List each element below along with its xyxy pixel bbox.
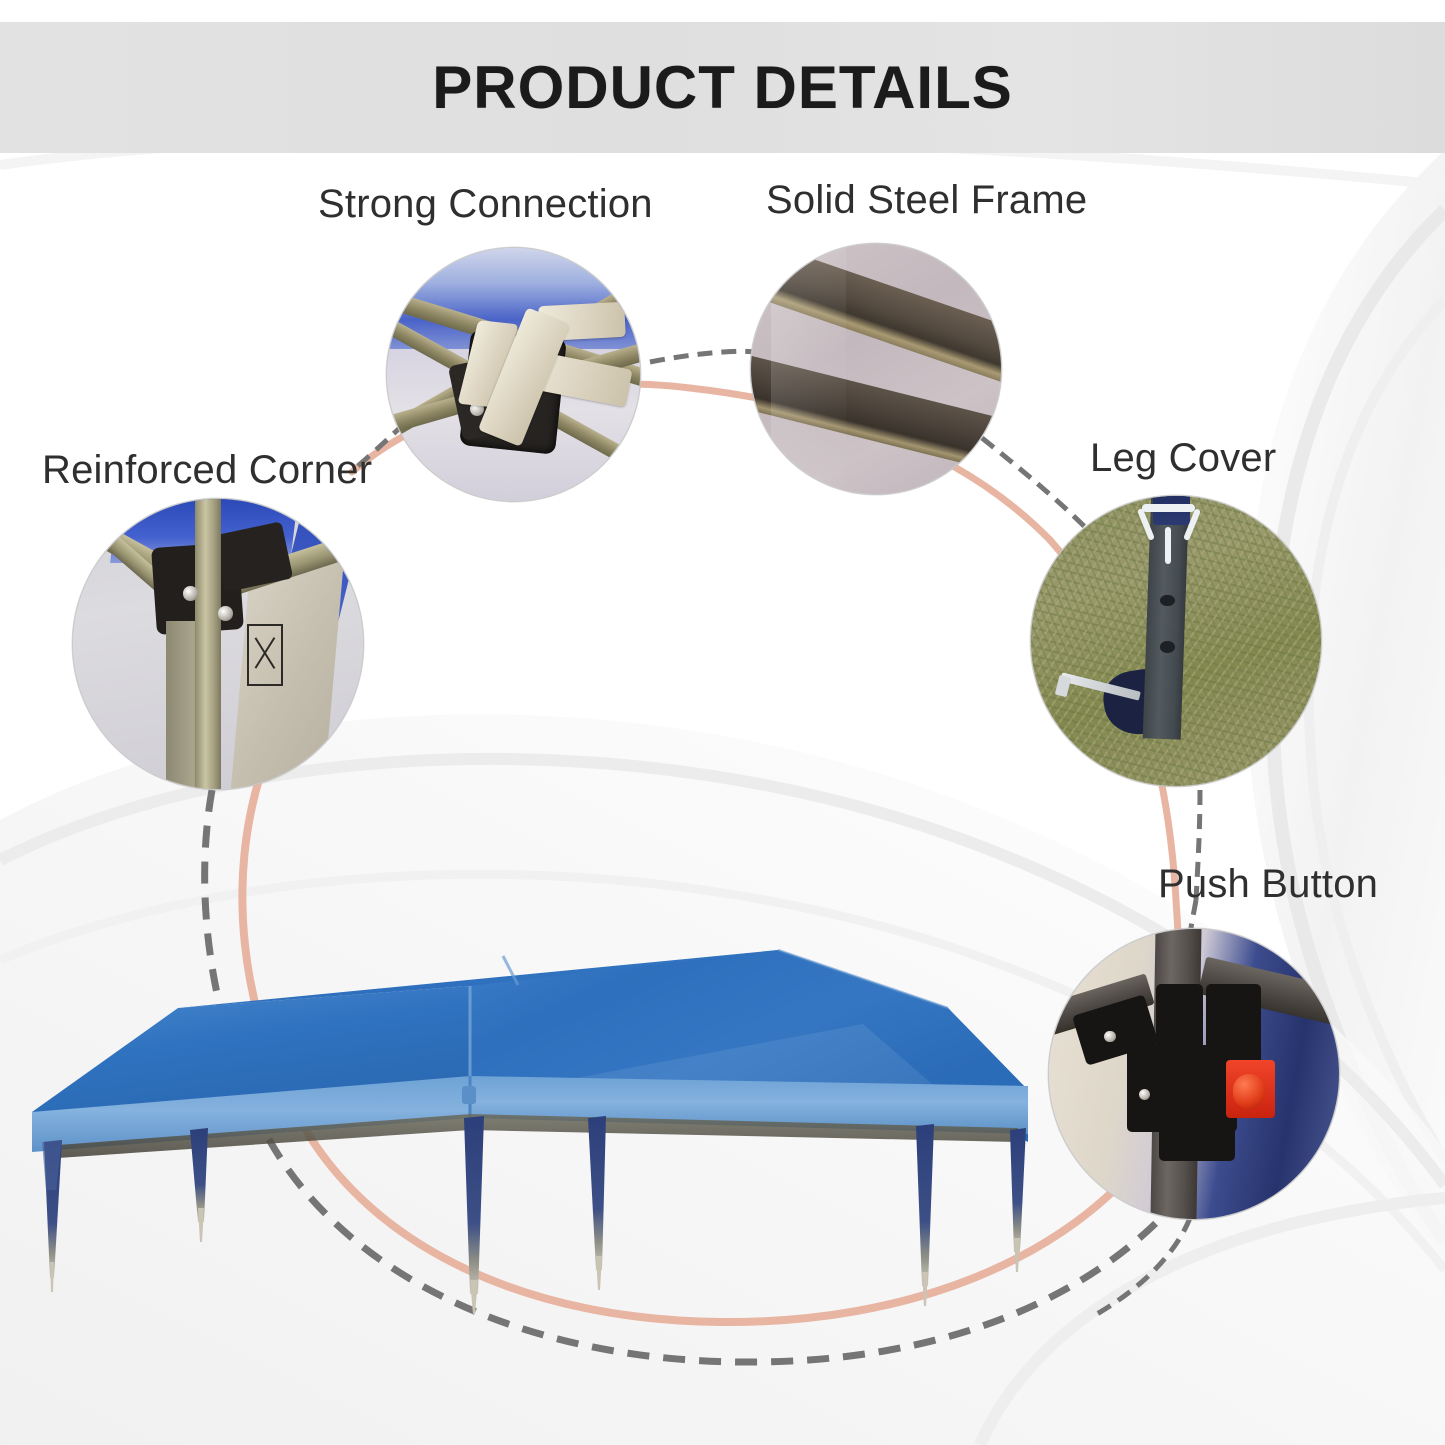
leg-post bbox=[195, 499, 221, 789]
page-title: PRODUCT DETAILS bbox=[0, 22, 1445, 153]
screw-icon bbox=[1104, 1031, 1116, 1043]
callout-image-push-button[interactable] bbox=[1048, 928, 1340, 1220]
callout-image-solid-steel-frame[interactable] bbox=[750, 243, 1002, 495]
product-details-infographic: PRODUCT DETAILS bbox=[0, 0, 1445, 1445]
product-image-canopy bbox=[18, 890, 1066, 1330]
callout-image-leg-cover[interactable] bbox=[1030, 495, 1322, 787]
canopy-leg-tips bbox=[50, 1208, 1020, 1314]
height-adjust-hole bbox=[1160, 641, 1175, 653]
label-strong-connection: Strong Connection bbox=[318, 182, 653, 227]
callout-image-strong-connection[interactable] bbox=[386, 247, 641, 502]
callout-image-reinforced-corner[interactable] bbox=[72, 498, 364, 790]
label-reinforced-corner: Reinforced Corner bbox=[42, 448, 372, 493]
screw-icon bbox=[218, 606, 233, 621]
screw-icon bbox=[183, 586, 198, 601]
label-leg-cover: Leg Cover bbox=[1090, 436, 1276, 481]
label-push-button: Push Button bbox=[1158, 862, 1378, 907]
height-adjust-hole bbox=[1160, 595, 1175, 607]
slider-connector bbox=[1159, 1109, 1234, 1161]
highlight-sheen bbox=[771, 244, 846, 494]
y-bracket-icon bbox=[1141, 502, 1196, 566]
reinforced-stitching bbox=[247, 624, 283, 686]
red-push-button bbox=[1233, 1074, 1265, 1109]
label-solid-steel-frame: Solid Steel Frame bbox=[766, 178, 1087, 223]
